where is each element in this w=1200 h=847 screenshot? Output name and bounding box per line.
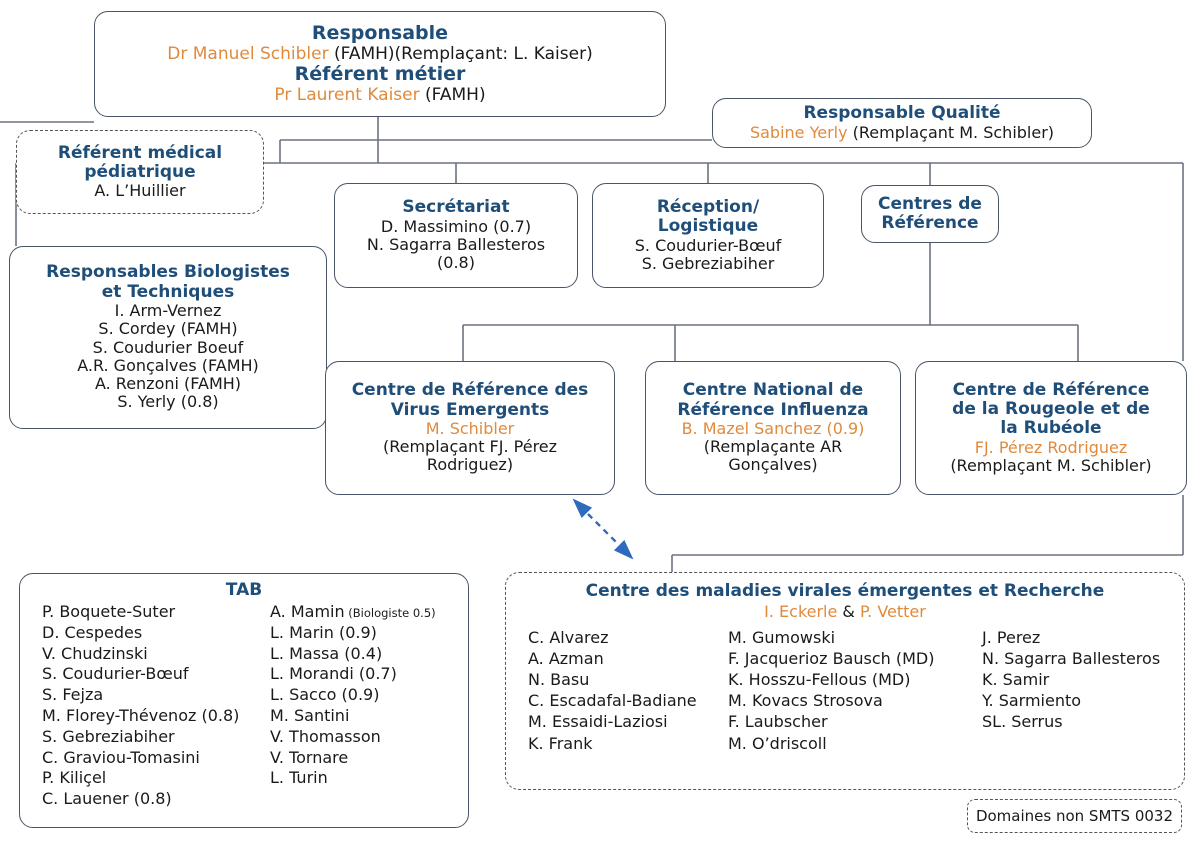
box-secretariat[interactable]: Secrétariat D. Massimino (0.7) N. Sagarr… <box>334 183 578 288</box>
tab-member: C. Graviou-Tomasini <box>42 748 270 769</box>
tab-member-name: A. Mamin <box>270 602 345 621</box>
influenza-title-line2: Référence Influenza <box>677 401 868 420</box>
cmvr-member: M. O’driscoll <box>728 733 982 754</box>
cmvr-leads: I. Eckerle & P. Vetter <box>506 602 1184 621</box>
tab-member: M. Florey-Thévenoz (0.8) <box>42 706 270 727</box>
tab-member: S. Gebreziabiher <box>42 727 270 748</box>
emergents-title-line2: Virus Emergents <box>391 401 550 420</box>
tab-member: L. Sacco (0.9) <box>270 685 436 706</box>
cmvr-member: K. Hosszu-Fellous (MD) <box>728 669 982 690</box>
box-tab[interactable]: TAB P. Boquete-Suter D. Cespedes V. Chud… <box>19 573 469 828</box>
cmvr-column-2: M. Gumowski F. Jacquerioz Bausch (MD) K.… <box>728 627 982 754</box>
tab-member-suffix: (Biologiste 0.5) <box>345 606 436 620</box>
referent-metier-title: Référent métier <box>295 64 466 86</box>
cmvr-member: N. Sagarra Ballesteros <box>982 648 1160 669</box>
emergents-detail-line1: (Remplaçant FJ. Pérez <box>383 438 557 456</box>
reception-member: S. Gebreziabiher <box>642 255 775 273</box>
pediatrique-title-line2: pédiatrique <box>84 163 195 182</box>
responsable-person: Dr Manuel Schibler (FAMH)(Remplaçant: L.… <box>167 45 592 64</box>
pediatrique-member: A. L’Huillier <box>94 182 185 200</box>
biologistes-member: I. Arm-Vernez <box>115 302 222 320</box>
cmvr-column-1: C. Alvarez A. Azman N. Basu C. Escadafal… <box>528 627 728 754</box>
secretariat-member: D. Massimino (0.7) <box>381 218 531 236</box>
cmvr-member: M. Essaidi-Laziosi <box>528 711 728 732</box>
influenza-name: B. Mazel Sanchez (0.9) <box>682 420 865 438</box>
cmvr-member: N. Basu <box>528 669 728 690</box>
tab-member: S. Fejza <box>42 685 270 706</box>
biologistes-title-line2: et Techniques <box>102 283 234 302</box>
reception-member: S. Coudurier-Bœuf <box>635 237 781 255</box>
legend-domaines-non-smts: Domaines non SMTS 0032 <box>967 799 1182 833</box>
cmvr-member: A. Azman <box>528 648 728 669</box>
tab-member: L. Massa (0.4) <box>270 644 436 665</box>
responsable-name: Dr Manuel Schibler <box>167 44 328 64</box>
cmvr-columns: C. Alvarez A. Azman N. Basu C. Escadafal… <box>506 627 1184 754</box>
rougeole-title-line1: Centre de Référence <box>953 381 1150 400</box>
biologistes-member: S. Yerly (0.8) <box>117 393 218 411</box>
box-centre-maladies-virales-emergentes-recherche[interactable]: Centre des maladies virales émergentes e… <box>505 572 1185 790</box>
tab-member: P. Kiliçel <box>42 768 270 789</box>
tab-column-2: A. Mamin (Biologiste 0.5) L. Marin (0.9)… <box>270 602 436 810</box>
secretariat-member: (0.8) <box>437 254 475 272</box>
secretariat-member: N. Sagarra Ballesteros <box>367 236 545 254</box>
rougeole-detail: (Remplaçant M. Schibler) <box>950 457 1151 475</box>
responsable-detail: (FAMH)(Remplaçant: L. Kaiser) <box>329 44 593 64</box>
rougeole-title-line3: la Rubéole <box>1000 419 1101 438</box>
responsable-title: Responsable <box>312 23 448 45</box>
tab-column-1: P. Boquete-Suter D. Cespedes V. Chudzins… <box>42 602 270 810</box>
cmvr-lead-2: P. Vetter <box>860 602 926 621</box>
qualite-person: Sabine Yerly (Remplaçant M. Schibler) <box>750 124 1054 142</box>
cmvr-member: C. Escadafal-Badiane <box>528 690 728 711</box>
centres-title-line2: Référence <box>881 214 978 233</box>
box-reception-logistique[interactable]: Réception/ Logistique S. Coudurier-Bœuf … <box>592 183 824 288</box>
influenza-detail-line1: (Remplaçante AR <box>704 438 842 456</box>
tab-member: P. Boquete-Suter <box>42 602 270 623</box>
reception-title-line1: Réception/ <box>657 198 759 217</box>
box-referent-medical-pediatrique[interactable]: Référent médical pédiatrique A. L’Huilli… <box>16 130 264 214</box>
cmvr-member: F. Jacquerioz Bausch (MD) <box>728 648 982 669</box>
qualite-name: Sabine Yerly <box>750 123 848 142</box>
org-chart-canvas: Responsable Dr Manuel Schibler (FAMH)(Re… <box>0 0 1200 847</box>
legend-label: Domaines non SMTS 0032 <box>976 807 1173 825</box>
tab-member: V. Thomasson <box>270 727 436 748</box>
box-centre-reference-rougeole-rubeole[interactable]: Centre de Référence de la Rougeole et de… <box>915 361 1187 495</box>
cmvr-member: F. Laubscher <box>728 711 982 732</box>
cmvr-member: K. Frank <box>528 733 728 754</box>
referent-metier-name: Pr Laurent Kaiser <box>274 85 419 105</box>
tab-member: L. Turin <box>270 768 436 789</box>
biologistes-title-line1: Responsables Biologistes <box>46 263 290 282</box>
cmvr-lead-1: I. Eckerle <box>764 602 837 621</box>
qualite-title: Responsable Qualité <box>803 104 1000 123</box>
tab-member: D. Cespedes <box>42 623 270 644</box>
reception-title-line2: Logistique <box>658 217 758 236</box>
box-responsable-qualite[interactable]: Responsable Qualité Sabine Yerly (Rempla… <box>712 98 1092 148</box>
tab-member: C. Lauener (0.8) <box>42 789 270 810</box>
tab-member: L. Morandi (0.7) <box>270 664 436 685</box>
cmvr-title: Centre des maladies virales émergentes e… <box>506 581 1184 601</box>
box-responsable[interactable]: Responsable Dr Manuel Schibler (FAMH)(Re… <box>94 11 666 117</box>
rougeole-title-line2: de la Rougeole et de <box>952 400 1150 419</box>
cmvr-member: K. Samir <box>982 669 1160 690</box>
tab-member: V. Tornare <box>270 748 436 769</box>
rougeole-name: FJ. Pérez Rodriguez <box>975 439 1127 457</box>
qualite-detail: (Remplaçant M. Schibler) <box>848 123 1054 142</box>
biologistes-member: S. Cordey (FAMH) <box>98 320 237 338</box>
bidirectional-arrow <box>575 501 631 557</box>
tab-member: V. Chudzinski <box>42 644 270 665</box>
tab-member: M. Santini <box>270 706 436 727</box>
centres-title-line1: Centres de <box>878 195 982 214</box>
emergents-detail-line2: Rodriguez) <box>427 456 513 474</box>
emergents-name: M. Schibler <box>426 420 515 438</box>
biologistes-member: A.R. Gonçalves (FAMH) <box>77 357 259 375</box>
referent-metier-person: Pr Laurent Kaiser (FAMH) <box>274 86 485 105</box>
tab-columns: P. Boquete-Suter D. Cespedes V. Chudzins… <box>20 602 468 810</box>
emergents-title-line1: Centre de Référence des <box>352 381 589 400</box>
tab-title: TAB <box>20 580 468 600</box>
cmvr-member: J. Perez <box>982 627 1160 648</box>
biologistes-member: S. Coudurier Boeuf <box>93 339 244 357</box>
secretariat-title: Secrétariat <box>402 198 509 217</box>
cmvr-lead-separator: & <box>837 602 860 621</box>
cmvr-member: SL. Serrus <box>982 711 1160 732</box>
cmvr-member: M. Gumowski <box>728 627 982 648</box>
biologistes-member: A. Renzoni (FAMH) <box>95 375 241 393</box>
cmvr-member: M. Kovacs Strosova <box>728 690 982 711</box>
tab-member: L. Marin (0.9) <box>270 623 436 644</box>
tab-member: A. Mamin (Biologiste 0.5) <box>270 602 436 623</box>
cmvr-member: Y. Sarmiento <box>982 690 1160 711</box>
box-centres-de-reference[interactable]: Centres de Référence <box>861 185 999 243</box>
cmvr-column-3: J. Perez N. Sagarra Ballesteros K. Samir… <box>982 627 1160 754</box>
influenza-title-line1: Centre National de <box>683 381 863 400</box>
pediatrique-title-line1: Référent médical <box>58 144 222 163</box>
cmvr-member: C. Alvarez <box>528 627 728 648</box>
tab-member: S. Coudurier-Bœuf <box>42 664 270 685</box>
box-centre-national-reference-influenza[interactable]: Centre National de Référence Influenza B… <box>645 361 901 495</box>
referent-metier-detail: (FAMH) <box>420 85 486 105</box>
box-centre-reference-virus-emergents[interactable]: Centre de Référence des Virus Emergents … <box>325 361 615 495</box>
box-responsables-biologistes[interactable]: Responsables Biologistes et Techniques I… <box>9 246 327 429</box>
influenza-detail-line2: Gonçalves) <box>728 456 817 474</box>
